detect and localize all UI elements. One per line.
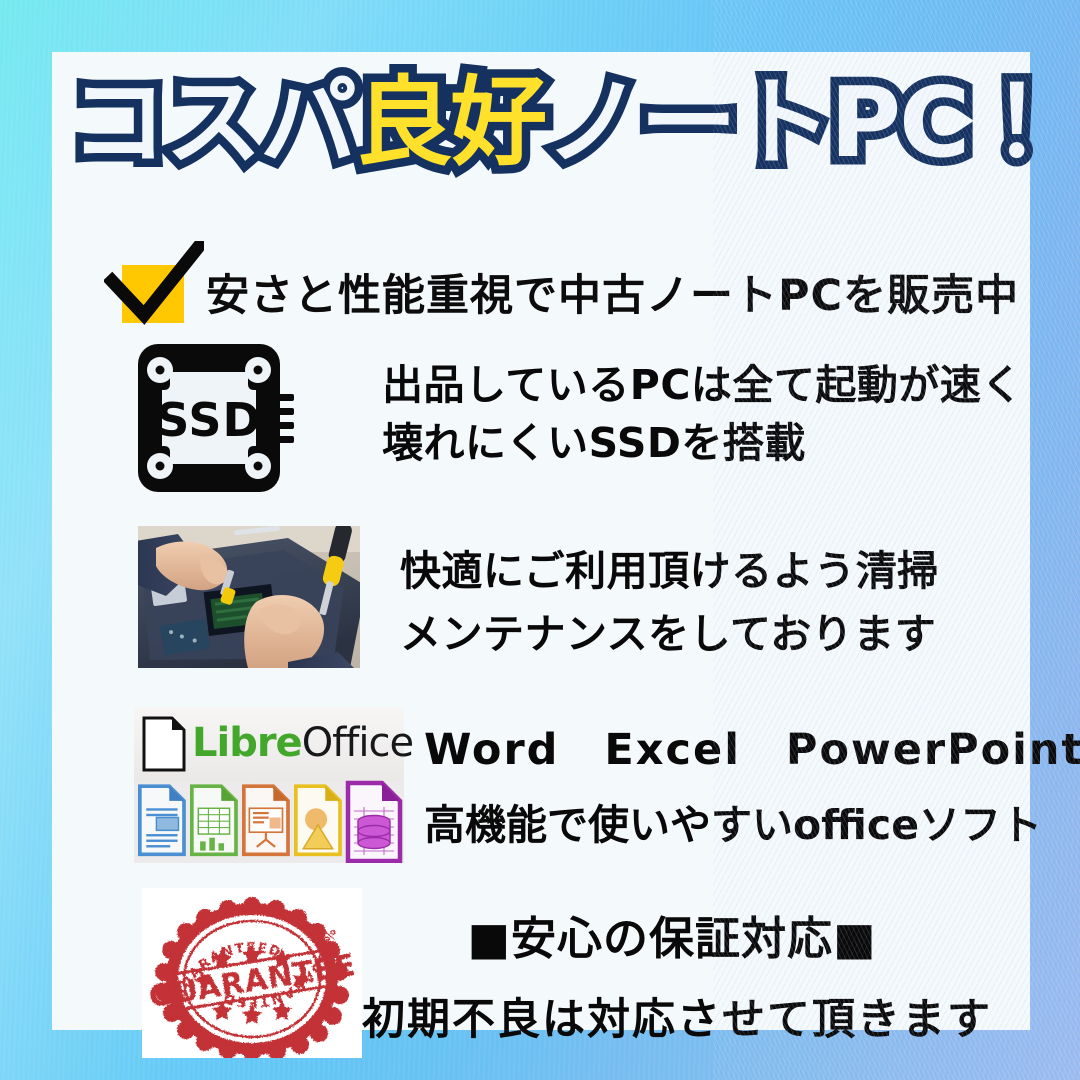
feature-row-office: LibreOffice (52, 707, 1030, 877)
office-text: Office (302, 720, 413, 766)
ssd-line-1: 出品しているPCは全て起動が速く (382, 356, 1023, 414)
ssd-icon-label: SSD (156, 393, 261, 447)
ssd-text: 出品しているPCは全て起動が速く 壊れにくいSSDを搭載 (382, 356, 1023, 472)
warranty-headline: ■安心の保証対応■ (362, 902, 982, 967)
laptop-repair-photo (138, 526, 360, 668)
libreoffice-module-icons (134, 775, 404, 863)
warranty-detail: 初期不良は対応させて頂きます (362, 985, 982, 1047)
libreoffice-logo: LibreOffice (134, 707, 404, 863)
calc-icon (192, 786, 236, 854)
guarantee-stamp-icon: 100% GUARANTEED 100% GUARANTEED (142, 888, 362, 1058)
headline-part-highlight: 良好 (355, 66, 545, 179)
base-icon (348, 783, 400, 861)
feature-row-maintenance: 快適にご利用頂けるよう清掃 メンテナンスをしております (52, 522, 1030, 682)
headline-part-1: コスパ (70, 66, 355, 179)
writer-icon (140, 786, 184, 854)
warranty-text: ■安心の保証対応■ 初期不良は対応させて頂きます (362, 902, 982, 1047)
libre-text: Libre (192, 720, 302, 766)
libreoffice-wordmark: LibreOffice (192, 715, 413, 771)
check-row-label: 安さと性能重視で中古ノートPCを販売中 (206, 261, 1019, 323)
content-card: コスパ良好ノートPC！ 安さと性能重視で中古ノートPCを販売中 (52, 52, 1030, 1030)
office-media: LibreOffice (134, 707, 404, 863)
maintenance-text: 快適にご利用頂けるよう清掃 メンテナンスをしております (400, 540, 939, 666)
impress-icon (244, 786, 288, 854)
warranty-media: 100% GUARANTEED 100% GUARANTEED (142, 888, 362, 1058)
office-suite-names: Word Excel PowerPoint (424, 715, 1080, 777)
office-text: Word Excel PowerPoint 高機能で使いやすいofficeソフト (424, 715, 1080, 851)
ssd-media: SSD (134, 338, 294, 498)
maintenance-line-2: メンテナンスをしております (400, 603, 939, 666)
feature-row-warranty: 100% GUARANTEED 100% GUARANTEED (52, 888, 1030, 1078)
headline-part-3: ノートPC！ (545, 66, 1063, 179)
draw-icon (296, 786, 340, 854)
poster-root: コスパ良好ノートPC！ 安さと性能重視で中古ノートPCを販売中 (0, 0, 1080, 1080)
office-description: 高機能で使いやすいofficeソフト (424, 791, 1080, 851)
check-row: 安さと性能重視で中古ノートPCを販売中 (118, 255, 1018, 327)
check-icon (104, 241, 204, 331)
libreoffice-wordmark-area: LibreOffice (134, 707, 404, 781)
page-title: コスパ良好ノートPC！ (70, 74, 1014, 173)
ssd-drive-icon: SSD (134, 338, 294, 498)
document-icon (142, 716, 186, 772)
maintenance-line-1: 快適にご利用頂けるよう清掃 (400, 540, 939, 603)
feature-row-ssd: SSD 出品しているPCは全て起動が速く 壊れにくいSSDを搭載 (52, 338, 1030, 504)
maintenance-media (138, 526, 360, 668)
ssd-line-2: 壊れにくいSSDを搭載 (382, 414, 1023, 472)
